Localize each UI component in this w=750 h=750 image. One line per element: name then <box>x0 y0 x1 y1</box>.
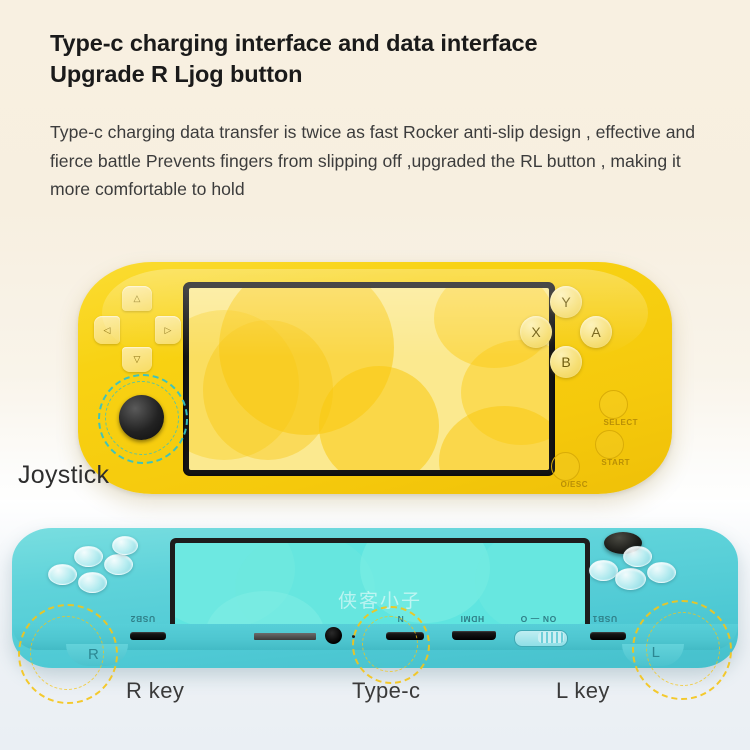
hdmi-port <box>452 631 496 640</box>
tf-card-slot <box>254 633 316 640</box>
headline-line-2: Upgrade R Ljog button <box>50 59 710 90</box>
teal-dpad-right-button[interactable] <box>104 554 133 575</box>
yellow-face-buttons: Y X A B <box>520 286 612 378</box>
start-label: START <box>601 458 630 467</box>
usb1-port-label: USB1 <box>592 614 617 624</box>
type-c-highlight-ring-inner <box>362 616 418 672</box>
dpad-up-button[interactable]: △ <box>122 286 152 311</box>
l-key-callout-label: L key <box>556 678 610 704</box>
headphone-jack <box>325 627 342 644</box>
body-paragraph: Type-c charging data transfer is twice a… <box>50 118 722 204</box>
button-y[interactable]: Y <box>550 286 582 318</box>
yellow-joystick[interactable] <box>119 395 164 440</box>
type-c-callout-label: Type-c <box>352 678 420 704</box>
dpad-down-button[interactable]: ▽ <box>122 347 152 372</box>
teal-button-a[interactable] <box>647 562 676 583</box>
teal-dpad-left-button[interactable] <box>48 564 77 585</box>
button-x[interactable]: X <box>520 316 552 348</box>
select-button[interactable] <box>599 390 628 419</box>
power-switch-grip[interactable] <box>538 632 564 643</box>
dpad-right-button[interactable]: ▷ <box>155 316 181 344</box>
r-key-highlight-ring-inner <box>30 616 104 690</box>
yellow-dpad: △ ◁ ▷ ▽ <box>94 286 180 372</box>
teal-button-y[interactable] <box>623 546 652 567</box>
teal-dpad-down-button[interactable] <box>78 572 107 593</box>
product-marketing-image: Type-c charging interface and data inter… <box>0 0 750 750</box>
button-b[interactable]: B <box>550 346 582 378</box>
headline: Type-c charging interface and data inter… <box>50 28 710 91</box>
yellow-console-screen-bezel <box>183 282 555 476</box>
joystick-callout-label: Joystick <box>18 461 109 490</box>
usb1-port <box>590 632 626 640</box>
power-switch-label: ON — O <box>520 614 556 624</box>
headline-line-1: Type-c charging interface and data inter… <box>50 28 710 59</box>
start-button[interactable] <box>595 430 624 459</box>
dpad-left-button[interactable]: ◁ <box>94 316 120 344</box>
r-key-callout-label: R key <box>126 678 184 704</box>
usb2-port <box>130 632 166 640</box>
screen-blob <box>319 366 439 470</box>
teal-extra-button[interactable] <box>112 536 138 555</box>
o-esc-label: O/ESC <box>561 480 588 489</box>
screen-blob <box>203 320 333 460</box>
screen-blob <box>439 406 549 470</box>
teal-button-x[interactable] <box>589 560 618 581</box>
usb2-port-label: USB2 <box>130 614 155 624</box>
yellow-console: △ ◁ ▷ ▽ Y X A B SELECT START O/ESC <box>78 262 672 494</box>
button-a[interactable]: A <box>580 316 612 348</box>
l-key-highlight-ring-inner <box>646 612 720 686</box>
power-switch[interactable] <box>514 630 568 647</box>
select-label: SELECT <box>603 418 638 427</box>
hdmi-port-label: HDMI <box>460 614 484 624</box>
yellow-console-screen <box>189 288 549 470</box>
o-esc-button[interactable] <box>551 452 580 481</box>
teal-dpad-up-button[interactable] <box>74 546 103 567</box>
teal-button-b[interactable] <box>615 568 646 590</box>
